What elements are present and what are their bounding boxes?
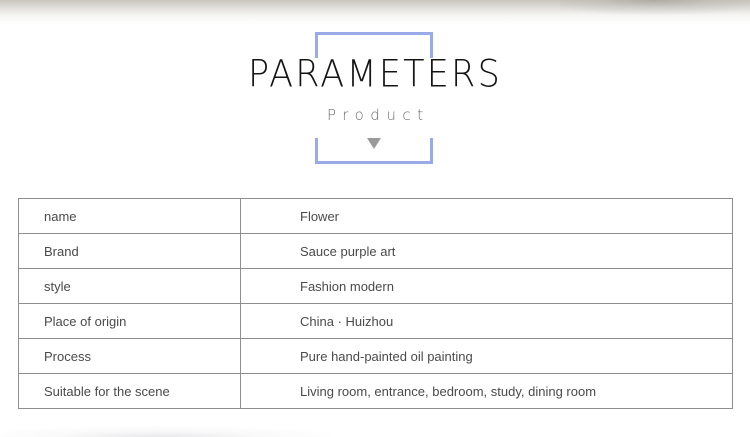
parameter-label: Place of origin bbox=[19, 304, 241, 339]
parameter-label: style bbox=[19, 269, 241, 304]
parameter-value: Fashion modern bbox=[241, 269, 733, 304]
parameter-value: Flower bbox=[241, 199, 733, 234]
parameter-label: name bbox=[19, 199, 241, 234]
parameter-value: Pure hand-painted oil painting bbox=[241, 339, 733, 374]
page-header: PARAMETERS Product bbox=[0, 0, 750, 190]
table-row: nameFlower bbox=[19, 199, 733, 234]
parameters-table-body: nameFlowerBrandSauce purple artstyleFash… bbox=[19, 199, 733, 409]
triangle-down-icon bbox=[367, 138, 381, 149]
parameter-value: Sauce purple art bbox=[241, 234, 733, 269]
table-row: BrandSauce purple art bbox=[19, 234, 733, 269]
bottom-shadow-overlay bbox=[0, 415, 330, 437]
product-parameters-page: PARAMETERS Product nameFlowerBrandSauce … bbox=[0, 0, 750, 437]
page-subtitle: Product bbox=[0, 108, 750, 123]
table-row: Place of originChina · Huizhou bbox=[19, 304, 733, 339]
table-row: styleFashion modern bbox=[19, 269, 733, 304]
page-title: PARAMETERS bbox=[0, 57, 750, 94]
parameter-value: China · Huizhou bbox=[241, 304, 733, 339]
table-row: ProcessPure hand-painted oil painting bbox=[19, 339, 733, 374]
parameter-label: Process bbox=[19, 339, 241, 374]
parameter-label: Suitable for the scene bbox=[19, 374, 241, 409]
parameter-label: Brand bbox=[19, 234, 241, 269]
table-row: Suitable for the sceneLiving room, entra… bbox=[19, 374, 733, 409]
parameter-value: Living room, entrance, bedroom, study, d… bbox=[241, 374, 733, 409]
parameters-table: nameFlowerBrandSauce purple artstyleFash… bbox=[18, 198, 733, 409]
